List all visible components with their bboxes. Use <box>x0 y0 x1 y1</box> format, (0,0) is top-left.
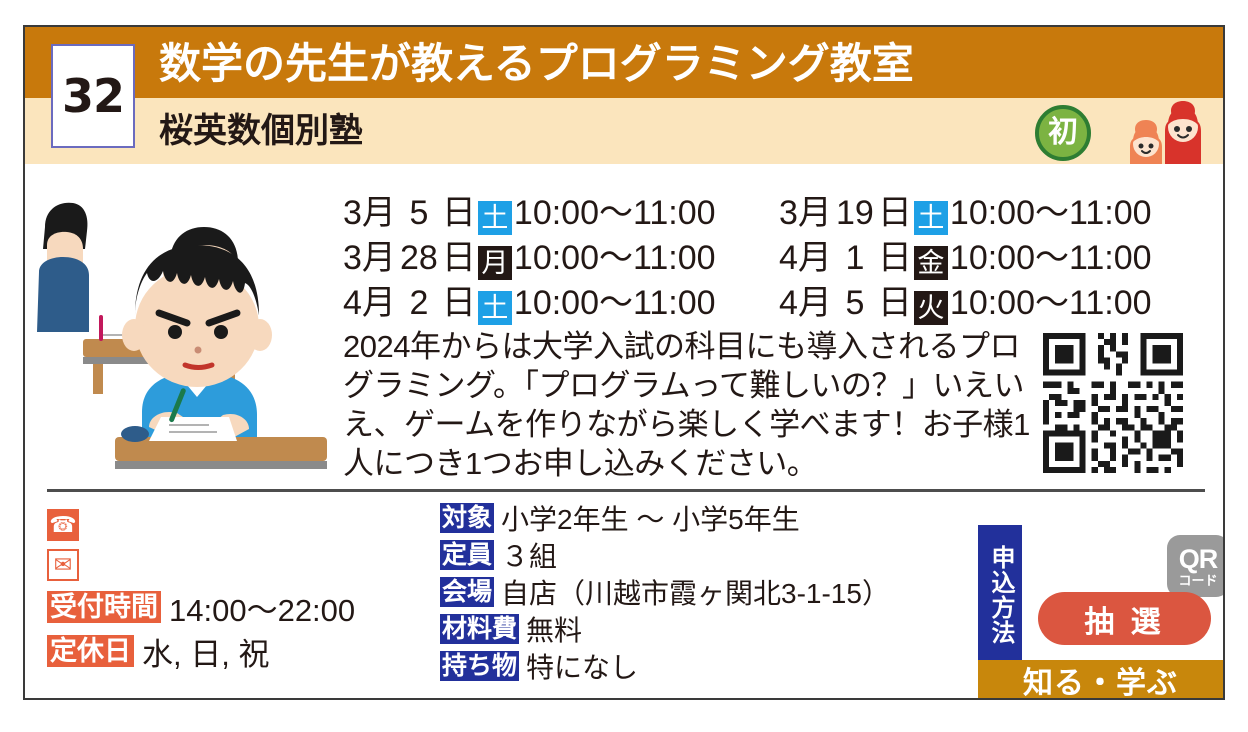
schedule-row: 4月 2 日 土 10:00〜11:00 4月 5 日 火 10:00〜11:0… <box>343 277 1215 322</box>
organizer-name: 桜英数個別塾 <box>159 103 363 159</box>
session-month: 3月 <box>779 185 832 234</box>
session-month: 4月 <box>779 275 832 324</box>
session-month: 4月 <box>343 275 396 324</box>
session-1: 3月 19 日 土 10:00〜11:00 <box>779 185 1215 234</box>
schedule-list: 3月 5 日 土 10:00〜11:00 3月 19 日 土 10:00〜11:… <box>343 187 1215 322</box>
session-day: 1 <box>832 239 878 278</box>
session-time: 10:00〜11:00 <box>950 185 1152 234</box>
page-title: 数学の先生が教えるプログラミング教室 <box>159 33 914 95</box>
detail-row-bring: 持ち物 特になし <box>440 647 970 684</box>
detail-label: 材料費 <box>440 614 519 644</box>
detail-label: 定員 <box>440 540 494 570</box>
session-time: 10:00〜11:00 <box>514 230 716 279</box>
parent-child-icon <box>1109 101 1201 164</box>
session-day-unit: 日 <box>442 275 476 324</box>
qr-code-label: QR コード <box>1167 535 1225 597</box>
phone-row: ☎ <box>47 505 407 545</box>
session-day-unit: 日 <box>878 230 912 279</box>
session-dow: 土 <box>478 201 512 235</box>
event-description: 2024年からは大学入試の科目にも導入されるプログラミング。「プログラムって難し… <box>343 327 1033 483</box>
telephone-icon: ☎ <box>47 509 79 541</box>
session-time: 10:00〜11:00 <box>950 275 1152 324</box>
hours-value: 14:00〜22:00 <box>169 585 355 630</box>
detail-value: 小学2年生 〜 小学5年生 <box>501 498 800 538</box>
category-bar: 知る・学ぶ <box>978 660 1223 700</box>
schedule-row: 3月 28 日 月 10:00〜11:00 4月 1 日 金 10:00〜11:… <box>343 232 1215 277</box>
mail-row: ✉ <box>47 545 407 585</box>
session-dow: 金 <box>914 246 948 280</box>
section-divider <box>47 489 1205 492</box>
qr-code-image[interactable] <box>1037 327 1189 479</box>
detail-row-target: 対象 小学2年生 〜 小学5年生 <box>440 499 970 536</box>
detail-value: 特になし <box>526 646 638 686</box>
detail-value: ３組 <box>501 535 557 575</box>
session-5: 4月 5 日 火 10:00〜11:00 <box>779 275 1215 324</box>
contact-info: ☎ ✉ 受付時間 14:00〜22:00 定休日 水, 日, 祝 <box>47 505 407 673</box>
detail-label: 対象 <box>440 503 494 533</box>
session-time: 10:00〜11:00 <box>514 185 716 234</box>
session-day: 2 <box>396 284 442 323</box>
session-day-unit: 日 <box>442 230 476 279</box>
session-2: 3月 28 日 月 10:00〜11:00 <box>343 230 779 279</box>
students-studying-illustration <box>37 187 332 472</box>
session-dow: 土 <box>478 291 512 325</box>
level-badge: 初 <box>1035 105 1091 161</box>
session-dow: 火 <box>914 291 948 325</box>
detail-value: 無料 <box>526 609 582 649</box>
session-day: 28 <box>396 239 442 278</box>
session-time: 10:00〜11:00 <box>514 275 716 324</box>
detail-label: 会場 <box>440 577 494 607</box>
level-badge-label: 初 <box>1048 118 1078 148</box>
session-month: 3月 <box>343 185 396 234</box>
card-number-box: 32 <box>51 44 135 148</box>
detail-label: 持ち物 <box>440 651 519 681</box>
closed-label: 定休日 <box>47 635 134 667</box>
session-day: 5 <box>396 194 442 233</box>
closed-value: 水, 日, 祝 <box>142 629 269 674</box>
session-month: 4月 <box>779 230 832 279</box>
application-method-label: 申込方法 <box>978 525 1022 665</box>
session-3: 4月 1 日 金 10:00〜11:00 <box>779 230 1215 279</box>
hours-label: 受付時間 <box>47 591 161 623</box>
session-dow: 土 <box>914 201 948 235</box>
session-day-unit: 日 <box>878 185 912 234</box>
schedule-row: 3月 5 日 土 10:00〜11:00 3月 19 日 土 10:00〜11:… <box>343 187 1215 232</box>
detail-row-materials-fee: 材料費 無料 <box>440 610 970 647</box>
event-card: 32 数学の先生が教えるプログラミング教室 桜英数個別塾 初 <box>23 25 1225 700</box>
event-details: 対象 小学2年生 〜 小学5年生 定員 ３組 会場 自店（川越市霞ヶ関北3-1-… <box>440 499 970 684</box>
card-number: 32 <box>62 69 124 123</box>
qr-label-sub: コード <box>1178 574 1217 587</box>
hours-row: 受付時間 14:00〜22:00 <box>47 585 407 629</box>
session-day-unit: 日 <box>442 185 476 234</box>
detail-row-venue: 会場 自店（川越市霞ヶ関北3-1-15） <box>440 573 970 610</box>
session-day-unit: 日 <box>878 275 912 324</box>
session-day: 5 <box>832 284 878 323</box>
detail-value: 自店（川越市霞ヶ関北3-1-15） <box>501 572 890 612</box>
session-dow: 月 <box>478 246 512 280</box>
mail-icon: ✉ <box>47 549 79 581</box>
session-4: 4月 2 日 土 10:00〜11:00 <box>343 275 779 324</box>
closed-row: 定休日 水, 日, 祝 <box>47 629 407 673</box>
session-time: 10:00〜11:00 <box>950 230 1152 279</box>
qr-label-main: QR <box>1179 546 1218 573</box>
session-day: 19 <box>832 194 878 233</box>
application-method-value: 抽 選 <box>1038 592 1211 645</box>
detail-row-capacity: 定員 ３組 <box>440 536 970 573</box>
session-0: 3月 5 日 土 10:00〜11:00 <box>343 185 779 234</box>
session-month: 3月 <box>343 230 396 279</box>
